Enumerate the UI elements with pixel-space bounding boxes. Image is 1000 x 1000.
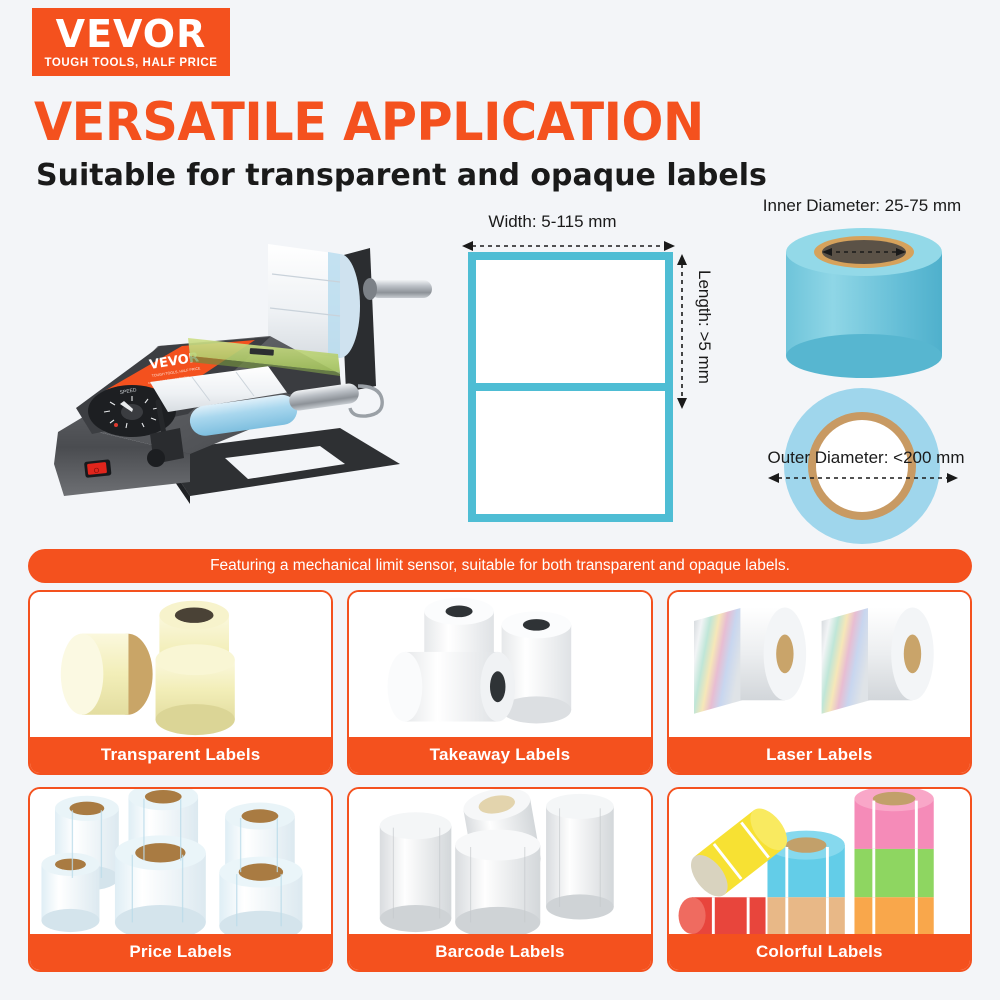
inner-diameter-spec: Inner Diameter: 25-75 mm: [742, 196, 982, 216]
feature-banner: Featuring a mechanical limit sensor, sui…: [28, 549, 972, 583]
card-caption-price: Price Labels: [30, 934, 331, 970]
roll-face-svg: [740, 388, 990, 548]
takeaway-rolls-svg: [349, 592, 650, 737]
barcode-roll-back-right: [546, 794, 614, 920]
label-dispenser-machine-image: VEVOR TOUGH TOOLS, HALF PRICE Automatic …: [40, 196, 440, 516]
card-laser-labels[interactable]: Laser Labels: [667, 590, 972, 775]
roll-red: [678, 897, 765, 934]
outer-diameter-spec: Outer Diameter: <200 mm: [736, 448, 996, 468]
card-caption-takeaway: Takeaway Labels: [349, 737, 650, 773]
roll-green: [854, 849, 933, 897]
laser-core-left: [776, 635, 793, 674]
label-sheet-graphic: [468, 252, 673, 522]
page-subheadline: Suitable for transparent and opaque labe…: [36, 158, 767, 193]
card-colorful-labels[interactable]: Colorful Labels: [667, 787, 972, 972]
card-image-transparent: [30, 592, 331, 737]
vevor-logo: VEVOR TOUGH TOOLS, HALF PRICE: [32, 8, 230, 76]
roll-back-hole: [175, 607, 214, 622]
card-caption-colorful: Colorful Labels: [669, 934, 970, 970]
spindle-cap: [363, 278, 377, 300]
roll-c-left: [388, 652, 423, 722]
roll-front-top: [156, 644, 235, 675]
laser-web-left: [694, 607, 742, 713]
label-types-grid: Transparent Labels: [28, 590, 972, 972]
card-caption-barcode: Barcode Labels: [349, 934, 650, 970]
roll-a-hole: [446, 606, 473, 618]
laser-web-right: [821, 607, 869, 713]
card-caption-laser: Laser Labels: [669, 737, 970, 773]
card-transparent-labels[interactable]: Transparent Labels: [28, 590, 333, 775]
roll-bottom-ellipse: [786, 334, 942, 378]
length-dimension-arrow: [676, 254, 688, 409]
roll-left-face: [61, 634, 104, 715]
laser-roll-right: [821, 607, 933, 713]
card-image-colorful: [669, 789, 970, 934]
label-size-diagram: Width: 5-115 mm Length: >5 mm: [430, 212, 710, 522]
dial-indicator-dot: [114, 423, 118, 427]
card-barcode-labels[interactable]: Barcode Labels: [347, 787, 652, 972]
barcode-roll-front: [456, 830, 541, 934]
page-headline: VERSATILE APPLICATION: [34, 92, 704, 153]
roll-tan: [767, 897, 844, 934]
card-image-price: [30, 789, 331, 934]
roll-pink: [854, 789, 933, 849]
card-image-laser: [669, 592, 970, 737]
barcode-rolls-svg: [349, 789, 650, 934]
laser-core-right: [903, 635, 920, 674]
label-length-spec: Length: >5 mm: [694, 270, 714, 384]
card-image-takeaway: [349, 592, 650, 737]
roll-liner-edge: [328, 252, 340, 358]
roll-b-hole: [523, 619, 550, 631]
card-price-labels[interactable]: Price Labels: [28, 787, 333, 972]
barcode-roll-left: [380, 812, 452, 932]
roll-front-bottom: [156, 704, 235, 735]
roll-orange: [854, 897, 933, 934]
laser-rolls-svg: [669, 592, 970, 737]
card-image-barcode: [349, 789, 650, 934]
outer-diameter-arrow: [768, 472, 958, 484]
card-takeaway-labels[interactable]: Takeaway Labels: [347, 590, 652, 775]
roll-spindle: [370, 280, 432, 298]
outer-diameter-diagram: Outer Diameter: <200 mm: [740, 388, 990, 548]
label-cell-top: [476, 260, 665, 383]
logo-tagline: TOUGH TOOLS, HALF PRICE: [44, 57, 217, 69]
price-roll-6: [219, 857, 302, 934]
roll-cylinder-svg: [764, 224, 964, 384]
price-roll-5: [115, 835, 206, 934]
machine-svg: VEVOR TOUGH TOOLS, HALF PRICE Automatic …: [40, 196, 440, 516]
width-dimension-arrow: [462, 240, 675, 252]
inner-diameter-diagram: Inner Diameter: 25-75 mm: [742, 196, 982, 391]
price-rolls-svg: [30, 789, 331, 934]
card-caption-transparent: Transparent Labels: [30, 737, 331, 773]
price-roll-4: [41, 853, 99, 932]
logo-wordmark: VEVOR: [56, 15, 207, 53]
laser-roll-left: [694, 607, 806, 713]
label-width-spec: Width: 5-115 mm: [430, 212, 675, 232]
label-cell-bottom: [476, 391, 665, 514]
roll-c-hole: [490, 671, 505, 702]
power-switch[interactable]: O: [84, 459, 112, 478]
colorful-rolls-svg: [669, 789, 970, 934]
lever-pivot: [147, 449, 165, 467]
roll-cylinder-graphic: [764, 224, 964, 384]
transparent-rolls-svg: [30, 592, 331, 737]
